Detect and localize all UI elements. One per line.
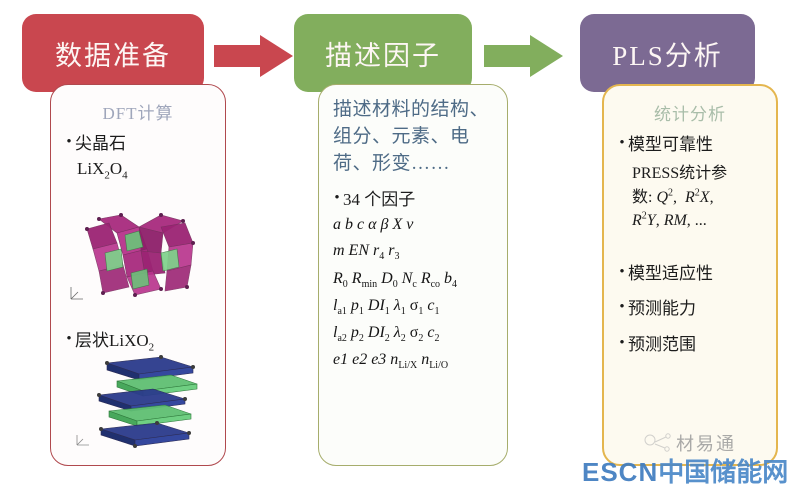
list-item-model-reliability: • 模型可靠性 — [616, 133, 764, 156]
stage-header-label: 数据准备 — [55, 34, 171, 73]
list-item-layered: • 层状LiXO2 — [63, 329, 213, 356]
layered-structure-figure — [69, 355, 215, 457]
list-item-spinel: • 尖晶石 — [63, 132, 213, 155]
stage-header-label: 描述因子 — [325, 34, 441, 73]
bullet-dot-icon: • — [616, 333, 628, 354]
flow-diagram: 数据准备 DFT计算 • 尖晶石 LiX2O4 — [0, 0, 800, 485]
list-item-model-adaptability: • 模型适应性 — [616, 262, 764, 285]
list-item-factor-count: • 34 个因子 — [331, 188, 495, 211]
card-subtitle-statistics: 统计分析 — [616, 100, 764, 125]
bullet-dot-icon: • — [63, 132, 75, 153]
watermark-escn-cn: 中国储能网 — [658, 457, 788, 487]
descriptor-paragraph-text: 描述材料的结构、组分、元素、电荷、形变…… — [333, 99, 489, 174]
bullet-dot-icon: • — [616, 262, 628, 283]
stage-header-data-preparation: 数据准备 — [22, 14, 204, 92]
formula-row-2: m EN r4 r3 — [333, 239, 495, 264]
list-item-prediction-range: • 预测范围 — [616, 333, 764, 356]
card-pls-analysis: 统计分析 • 模型可靠性 PRESS统计参 数: Q2, R2X, R2Y, R… — [602, 84, 778, 466]
stage-header-label: PLS分析 — [612, 34, 723, 73]
formula-row-1: a b c α β Χ v — [333, 213, 495, 237]
watermark-escn-latin: ESCN — [582, 457, 658, 487]
formula-row-4: la1 p1 DI1 λ1 σ1 c1 — [333, 294, 495, 319]
bullet-dot-icon: • — [616, 133, 628, 154]
spinel-structure-figure — [65, 213, 215, 305]
arrow-green — [484, 33, 564, 79]
list-item-label: 尖晶石 — [75, 132, 213, 155]
card-data-preparation: DFT计算 • 尖晶石 LiX2O4 — [50, 84, 226, 466]
formula-row-3: R0 Rmin D0 Nc Rco b4 — [333, 267, 495, 292]
list-item-label: 层状LiXO2 — [75, 329, 213, 356]
stage-header-pls-analysis: PLS分析 — [580, 14, 755, 92]
list-item-label: 模型适应性 — [628, 262, 764, 285]
brand-mark-icon — [640, 432, 674, 454]
formula-row-5: la2 p2 DI2 λ2 σ2 c2 — [333, 321, 495, 346]
stage-header-descriptors: 描述因子 — [294, 14, 472, 92]
list-item-label: 34 个因子 — [343, 188, 495, 211]
list-item-label: 预测能力 — [628, 297, 764, 320]
list-item-label: 模型可靠性 — [628, 133, 764, 156]
arrow-red — [214, 33, 294, 79]
card-descriptors: 描述材料的结构、组分、元素、电荷、形变…… • 34 个因子 a b c α β… — [318, 84, 508, 466]
list-item-prediction-ability: • 预测能力 — [616, 297, 764, 320]
bullet-dot-icon: • — [63, 329, 75, 350]
formula-row-6: e1 e2 e3 nLi/X nLi/O — [333, 348, 495, 373]
descriptor-paragraph: 描述材料的结构、组分、元素、电荷、形变…… — [333, 97, 495, 178]
card-subtitle-dft: DFT计算 — [63, 99, 213, 124]
bullet-dot-icon: • — [331, 188, 343, 209]
list-item-label: 预测范围 — [628, 333, 764, 356]
press-line-1: PRESS统计参 — [632, 162, 764, 185]
press-line-3: R2Y, RM, ... — [632, 209, 764, 232]
press-line-2: 数: Q2, R2X, — [632, 186, 764, 209]
watermark-escn: ESCN中国储能网 — [582, 452, 788, 489]
bullet-dot-icon: • — [616, 297, 628, 318]
formula-spinel: LiX2O4 — [77, 157, 213, 184]
